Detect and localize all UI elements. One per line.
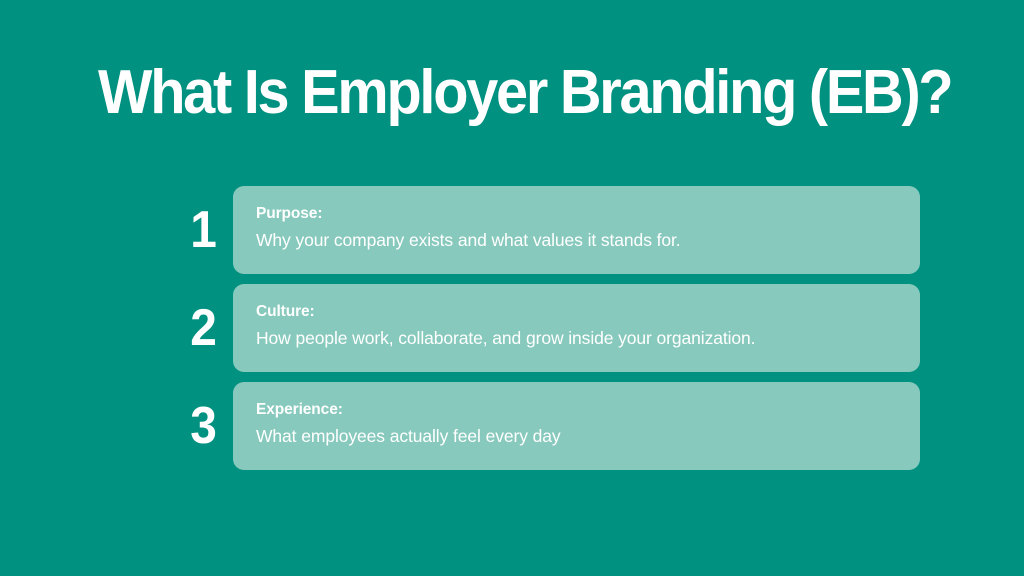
page-title: What Is Employer Branding (EB)? — [98, 58, 870, 128]
item-card-culture: Culture: How people work, collaborate, a… — [233, 284, 920, 372]
item-description: What employees actually feel every day — [256, 424, 898, 448]
item-card-purpose: Purpose: Why your company exists and wha… — [233, 186, 920, 274]
item-label: Purpose: — [256, 204, 898, 224]
list-item: 1 Purpose: Why your company exists and w… — [0, 186, 1024, 274]
list-item: 2 Culture: How people work, collaborate,… — [0, 284, 1024, 372]
items-list: 1 Purpose: Why your company exists and w… — [0, 186, 1024, 470]
item-number-1: 1 — [155, 186, 216, 274]
slide-canvas: What Is Employer Branding (EB)? 1 Purpos… — [0, 0, 1024, 576]
list-item: 3 Experience: What employees actually fe… — [0, 382, 1024, 470]
item-label: Culture: — [256, 302, 898, 322]
item-description: Why your company exists and what values … — [256, 228, 898, 252]
item-number-3: 3 — [155, 382, 216, 470]
item-card-experience: Experience: What employees actually feel… — [233, 382, 920, 470]
item-label: Experience: — [256, 400, 898, 420]
item-number-2: 2 — [155, 284, 216, 372]
item-description: How people work, collaborate, and grow i… — [256, 326, 898, 350]
